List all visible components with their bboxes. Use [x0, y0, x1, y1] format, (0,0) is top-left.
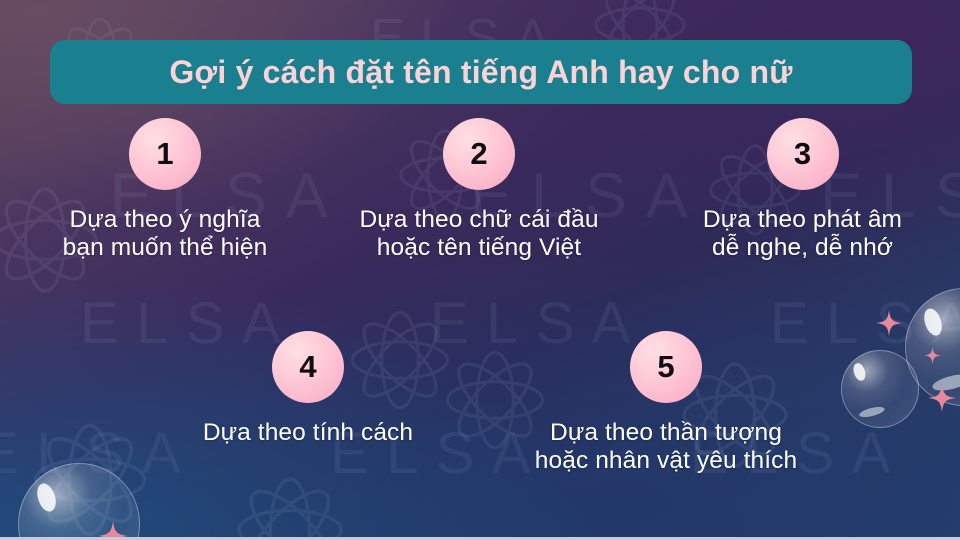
sparkle-icon [924, 347, 941, 364]
title-banner: Gợi ý cách đặt tên tiếng Anh hay cho nữ [50, 40, 912, 104]
step-number-3: 3 [794, 138, 811, 169]
step-number-2: 2 [470, 138, 487, 169]
step-item-3: 3 Dựa theo phát âm dễ nghe, dễ nhớ [645, 118, 960, 263]
step-badge-1: 1 [129, 118, 201, 190]
step-item-1: 1 Dựa theo ý nghĩa bạn muốn thể hiện [0, 118, 330, 263]
step-item-4: 4 Dựa theo tính cách [150, 331, 466, 447]
step-badge-4: 4 [272, 331, 344, 403]
step-number-4: 4 [299, 351, 316, 382]
step-item-2: 2 Dựa theo chữ cái đầu hoặc tên tiếng Vi… [320, 118, 638, 263]
step-badge-5: 5 [630, 331, 702, 403]
step-number-5: 5 [657, 351, 674, 382]
step-badge-3: 3 [767, 118, 839, 190]
sparkle-icon [876, 310, 902, 336]
infographic-poster: ELSA ELSA ELSA ELSA ELSA ELSA ELSA ELSA … [0, 0, 960, 540]
step-item-5: 5 Dựa theo thần tượng hoặc nhân vật yêu … [500, 331, 832, 476]
step-label-5: Dựa theo thần tượng hoặc nhân vật yêu th… [500, 419, 832, 476]
step-label-1: Dựa theo ý nghĩa bạn muốn thể hiện [0, 206, 330, 263]
sparkle-icon [928, 384, 956, 412]
flower-logo-watermark [215, 455, 365, 540]
page-title: Gợi ý cách đặt tên tiếng Anh hay cho nữ [169, 56, 792, 88]
step-badge-2: 2 [443, 118, 515, 190]
step-number-1: 1 [156, 138, 173, 169]
decorative-bubble [841, 350, 919, 428]
step-label-4: Dựa theo tính cách [150, 419, 466, 447]
step-label-2: Dựa theo chữ cái đầu hoặc tên tiếng Việt [320, 206, 638, 263]
step-label-3: Dựa theo phát âm dễ nghe, dễ nhớ [645, 206, 960, 263]
